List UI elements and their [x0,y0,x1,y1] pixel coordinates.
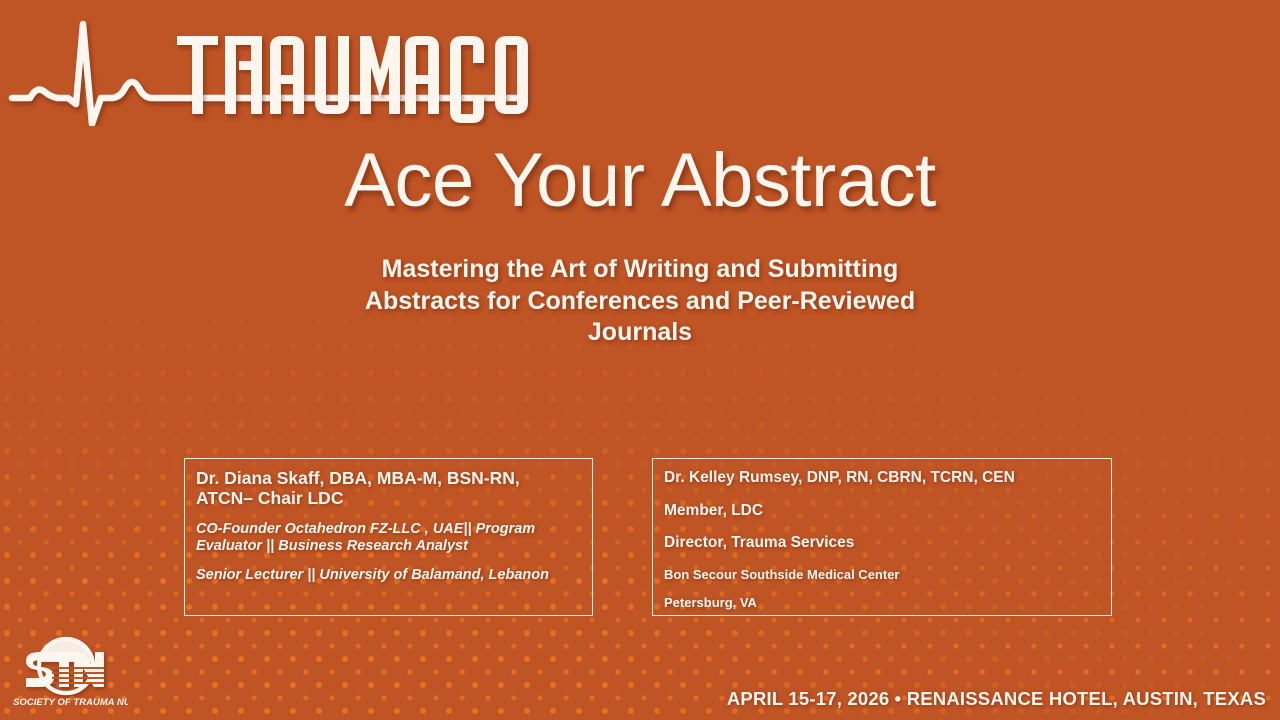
subtitle-line-2: Abstracts for Conferences and Peer-Revie… [340,286,940,318]
stn-tagline: SOCIETY OF TRAUMA NURSES® [13,697,128,707]
subtitle-line-1: Mastering the Art of Writing and Submitt… [340,254,940,286]
speaker-location: Petersburg, VA [664,595,1099,611]
speaker-title: Director, Trauma Services [664,534,1099,553]
speaker-organization: Bon Secour Southside Medical Center [664,567,1099,583]
speaker-role-primary: CO-Founder Octahedron FZ-LLC , UAE|| Pro… [196,521,580,555]
ecg-heartbeat-icon [12,24,522,124]
page-title: Ace Your Abstract [0,143,1280,219]
page-subtitle: Mastering the Art of Writing and Submitt… [340,254,940,349]
speaker-membership: Member, LDC [664,502,1099,521]
stn-logo-svg: SOCIETY OF TRAUMA NURSES® [8,636,128,714]
traumacon-wordmark [177,36,536,123]
speaker-role-secondary: Senior Lecturer || University of Balaman… [196,567,580,584]
speaker-card-kelley-rumsey: Dr. Kelley Rumsey, DNP, RN, CBRN, TCRN, … [652,458,1112,616]
speaker-name: Dr. Diana Skaff, DBA, MBA-M, BSN-RN, ATC… [196,469,580,509]
speaker-card-diana-skaff: Dr. Diana Skaff, DBA, MBA-M, BSN-RN, ATC… [184,458,593,616]
subtitle-line-3: Journals [340,317,940,349]
event-details: APRIL 15-17, 2026 • RENAISSANCE HOTEL, A… [727,688,1266,710]
traumacon-logo-svg [6,6,536,126]
stn-mark [26,638,104,693]
presentation-slide: Ace Your Abstract Mastering the Art of W… [0,0,1280,720]
traumacon-logo [6,6,536,126]
stn-society-logo: SOCIETY OF TRAUMA NURSES® [8,636,128,714]
speaker-name: Dr. Kelley Rumsey, DNP, RN, CBRN, TCRN, … [664,469,1099,488]
